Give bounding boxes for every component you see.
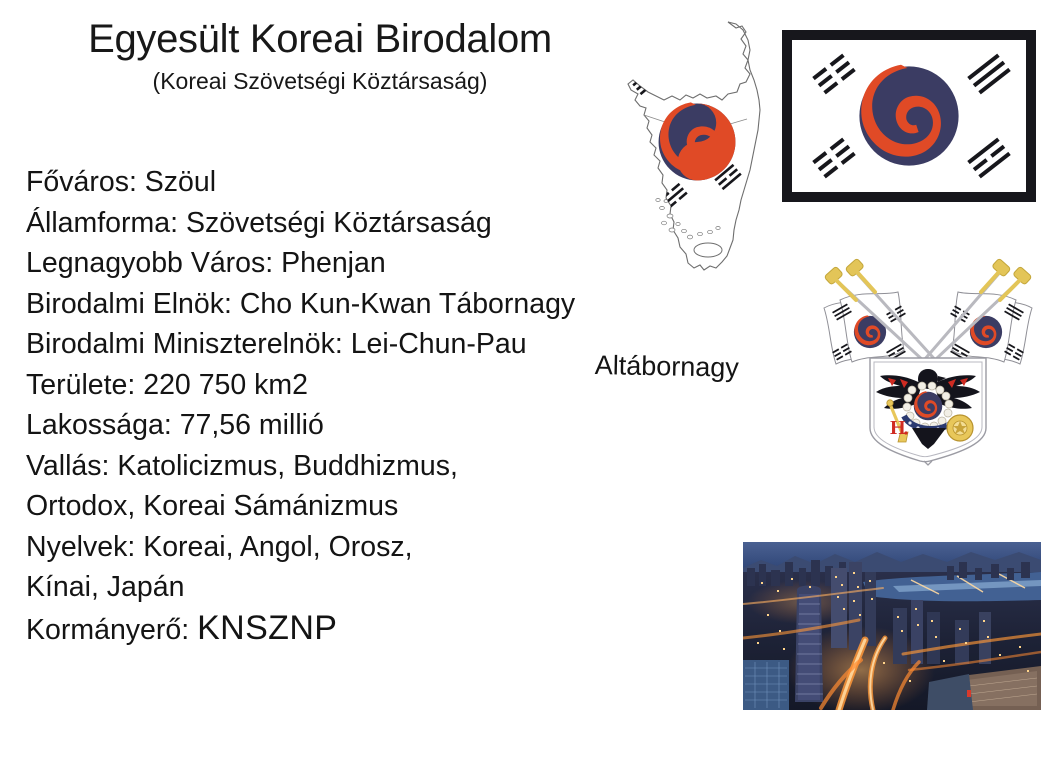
government-force-value: KNSZNP — [197, 609, 337, 647]
coa-flags-right — [950, 292, 1032, 364]
title-block: Egyesült Koreai Birodalom (Koreai Szövet… — [0, 18, 640, 93]
coat-of-arms-svg: H — [812, 256, 1044, 474]
page-subtitle: (Koreai Szövetségi Köztársaság) — [0, 69, 640, 93]
fact-religion-line-2: Ortodox, Koreai Sámánizmus — [26, 486, 816, 527]
flag-svg — [778, 8, 1040, 204]
jeju-island — [694, 243, 722, 257]
cityscape-svg — [743, 542, 1041, 710]
slide-canvas: Egyesült Koreai Birodalom (Koreai Szövet… — [0, 0, 1045, 765]
rank-overlay-text: Altábornagy — [594, 352, 739, 382]
fact-languages-line-2: Kínai, Japán — [26, 567, 816, 608]
fact-languages-line-1: Nyelvek: Koreai, Angol, Orosz, — [26, 527, 816, 568]
imperial-coat-of-arms: H — [812, 256, 1044, 474]
photo-red-light — [967, 690, 971, 697]
map-svg — [600, 18, 782, 293]
gold-medal — [947, 415, 973, 441]
national-flag — [778, 8, 1040, 204]
korean-peninsula-map — [600, 18, 782, 293]
red-monogram: H — [890, 417, 908, 439]
fact-religion-line-1: Vallás: Katolicizmus, Buddhizmus, — [26, 446, 816, 487]
government-force-label: Kormányerő: — [26, 614, 189, 646]
page-title: Egyesült Koreai Birodalom — [0, 18, 640, 60]
fact-population: Lakossága: 77,56 millió — [26, 405, 816, 446]
coa-flags-left — [824, 292, 906, 364]
svg-text:H: H — [890, 417, 906, 439]
seoul-night-skyline-photo — [743, 542, 1041, 710]
fact-government-force: Kormányerő: KNSZNP — [26, 608, 816, 651]
